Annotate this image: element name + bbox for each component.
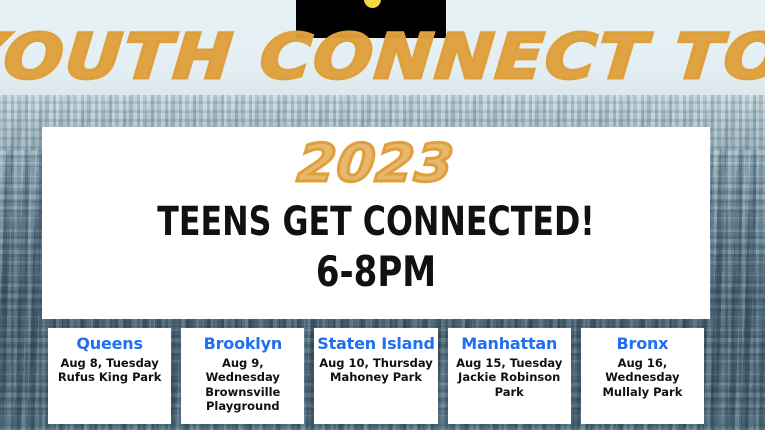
- borough-cards-row: QueensAug 8, TuesdayRufus King ParkBrook…: [48, 328, 704, 424]
- poster-canvas: YOUTH CONNECT TOUR 2023 TEENS GET CONNEC…: [0, 0, 765, 430]
- borough-detail-line: Aug 15, Tuesday: [456, 356, 562, 370]
- borough-name: Staten Island: [317, 336, 434, 353]
- page-title: YOUTH CONNECT TOUR: [0, 26, 765, 88]
- borough-name: Bronx: [617, 336, 669, 353]
- borough-detail-line: Rufus King Park: [58, 370, 162, 384]
- borough-name: Manhattan: [461, 336, 557, 353]
- borough-detail-line: Jackie Robinson: [456, 370, 562, 384]
- borough-detail-line: Park: [456, 385, 562, 399]
- main-info-panel: 2023 TEENS GET CONNECTED! 6-8PM: [42, 127, 710, 319]
- borough-card-queens[interactable]: QueensAug 8, TuesdayRufus King Park: [48, 328, 171, 424]
- borough-detail-line: Aug 8, Tuesday: [58, 356, 162, 370]
- borough-detail-line: Playground: [185, 399, 300, 413]
- borough-detail-line: Mullaly Park: [602, 385, 682, 399]
- borough-detail-line: Mahoney Park: [319, 370, 433, 384]
- event-time-text: 6-8PM: [75, 251, 676, 293]
- borough-name: Queens: [76, 336, 142, 353]
- borough-detail-line: Brownsville: [185, 385, 300, 399]
- borough-detail-line: Aug 16,: [602, 356, 682, 370]
- borough-details: Aug 15, TuesdayJackie RobinsonPark: [452, 356, 566, 399]
- year-text: 2023: [23, 138, 729, 190]
- borough-card-staten-island[interactable]: Staten IslandAug 10, ThursdayMahoney Par…: [314, 328, 437, 424]
- borough-detail-line: Wednesday: [602, 370, 682, 384]
- borough-details: Aug 9, WednesdayBrownsvillePlayground: [181, 356, 304, 414]
- borough-details: Aug 10, ThursdayMahoney Park: [315, 356, 437, 385]
- borough-detail-line: Aug 10, Thursday: [319, 356, 433, 370]
- borough-card-brooklyn[interactable]: BrooklynAug 9, WednesdayBrownsvillePlayg…: [181, 328, 304, 424]
- borough-card-bronx[interactable]: BronxAug 16,WednesdayMullaly Park: [581, 328, 704, 424]
- borough-detail-line: Aug 9, Wednesday: [185, 356, 300, 385]
- borough-name: Brooklyn: [204, 336, 282, 353]
- logo-dot-icon: [364, 0, 381, 8]
- tagline-text: TEENS GET CONNECTED!: [82, 202, 670, 242]
- borough-details: Aug 8, TuesdayRufus King Park: [54, 356, 166, 385]
- borough-details: Aug 16,WednesdayMullaly Park: [598, 356, 686, 399]
- borough-card-manhattan[interactable]: ManhattanAug 15, TuesdayJackie RobinsonP…: [448, 328, 571, 424]
